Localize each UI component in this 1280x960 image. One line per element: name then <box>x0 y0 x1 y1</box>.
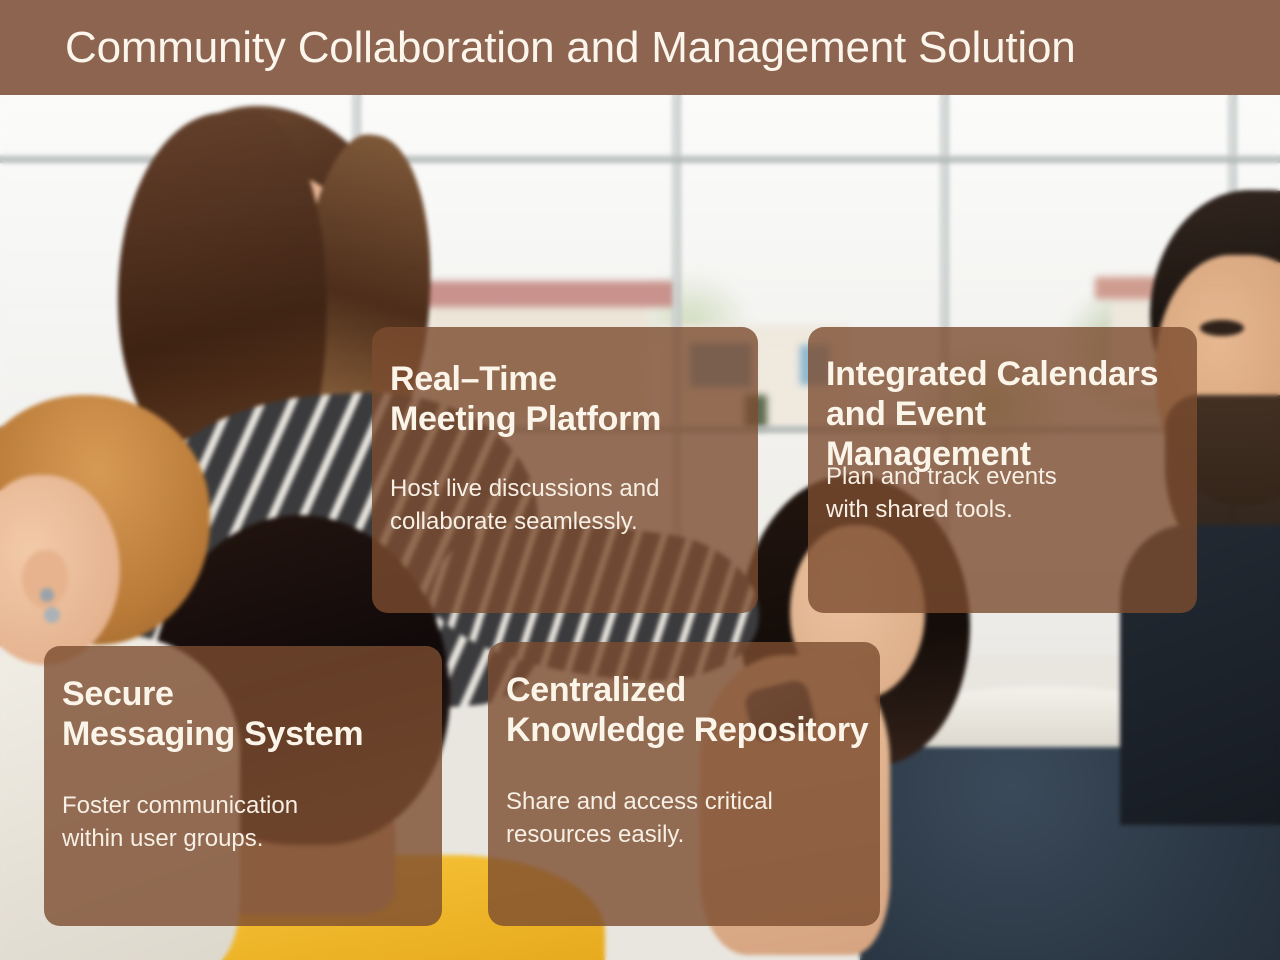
feature-card-centralized-knowledge-repository[interactable]: Centralized Knowledge Repository Share a… <box>488 642 880 926</box>
feature-card-description: Host live discussions and collaborate se… <box>390 472 750 538</box>
feature-card-title: Centralized Knowledge Repository <box>506 670 880 750</box>
feature-card-description: Share and access critical resources easi… <box>506 785 880 851</box>
header-bar: Community Collaboration and Management S… <box>0 0 1280 95</box>
outdoor-building-roof <box>400 281 675 307</box>
slide-canvas: Community Collaboration and Management S… <box>0 0 1280 960</box>
page-title: Community Collaboration and Management S… <box>65 24 1076 70</box>
feature-card-title: Secure Messaging System <box>62 674 440 754</box>
earring <box>40 588 54 602</box>
feature-card-description: Foster communication within user groups. <box>62 789 440 855</box>
feature-card-integrated-calendars-and-event-management[interactable]: Integrated Calendars and Event Managemen… <box>808 327 1197 613</box>
feature-card-title: Real–Time Meeting Platform <box>390 359 750 439</box>
feature-card-real-time-meeting-platform[interactable]: Real–Time Meeting Platform Host live dis… <box>372 327 758 613</box>
feature-card-secure-messaging-system[interactable]: Secure Messaging System Foster communica… <box>44 646 442 926</box>
earring <box>44 607 60 623</box>
person-bearded-man-eye <box>1200 320 1244 336</box>
feature-card-title: Integrated Calendars and Event Managemen… <box>826 354 1198 474</box>
feature-card-description: Plan and track events with shared tools. <box>826 460 1198 526</box>
